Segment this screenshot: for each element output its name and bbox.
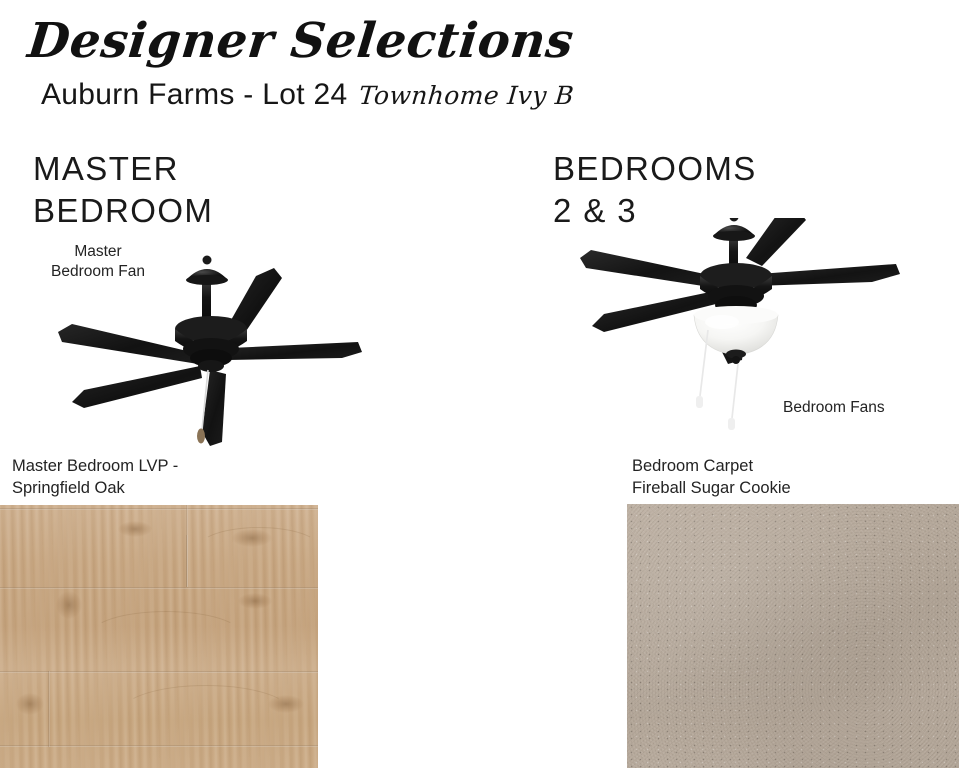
carpet-swatch [627,504,959,768]
subtitle-row: Auburn Farms - Lot 24 Townhome Ivy B [41,78,574,112]
lvp-flooring-swatch [0,505,318,768]
callout-bedroom-fans: Bedroom Fans [783,398,885,418]
designer-selections-board: Designer Selections Auburn Farms - Lot 2… [0,0,959,768]
caption-bedroom-carpet: Bedroom Carpet Fireball Sugar Cookie [632,456,791,500]
carpet-shading-overlay [627,504,959,768]
caption-master-bedroom-lvp: Master Bedroom LVP - Springfield Oak [12,456,178,500]
fan-motor-housing [175,316,247,372]
community-lot-label: Auburn Farms - Lot 24 [41,78,347,112]
plan-name-label: Townhome Ivy B [358,81,575,110]
page-title: Designer Selections [25,16,576,66]
section-heading-master-bedroom: MASTER BEDROOM [33,148,213,232]
master-bedroom-ceiling-fan-image [50,250,390,455]
